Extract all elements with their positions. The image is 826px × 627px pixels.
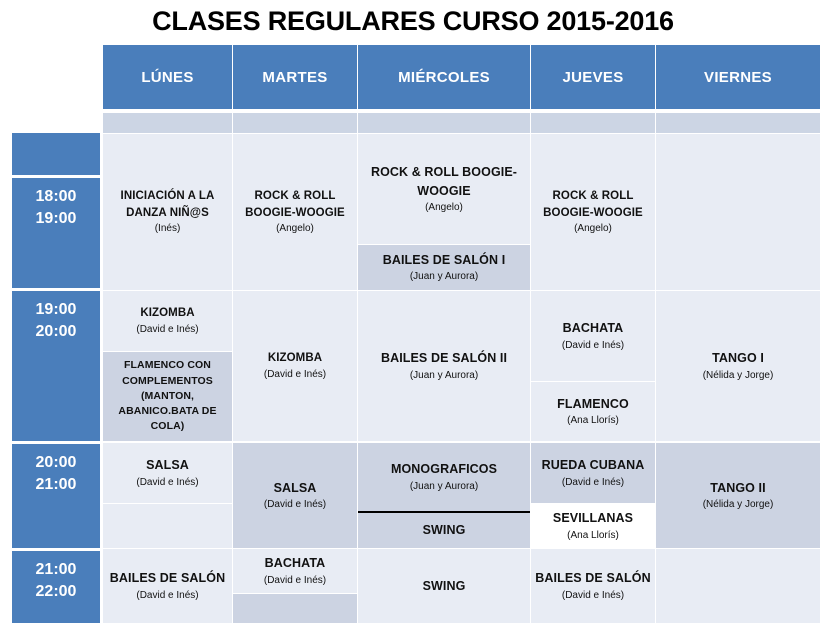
class-teacher: (Nélida y Jorge) [703,369,774,383]
class-teacher: (Ana Llorís) [567,414,619,428]
time-block-21-22: 21:00 22:00 [12,551,100,623]
time-from: 19:00 [36,299,77,321]
class-cell-lunes-20[interactable]: SALSA (David e Inés) [103,443,232,503]
class-teacher: (David e Inés) [264,574,326,588]
class-name: MONOGRAFICOS [391,460,497,478]
class-cell-miercoles-18-b[interactable]: BAILES DE SALÓN I (Juan y Aurora) [358,245,530,290]
time-block-20-21: 20:00 21:00 [12,444,100,548]
class-teacher: (David e Inés) [264,498,326,512]
class-cell-martes-21-empty[interactable] [233,594,357,623]
class-cell-miercoles-19[interactable]: BAILES DE SALÓN II (Juan y Aurora) [358,291,530,441]
day-header-martes: MARTES [233,45,357,109]
spacer-cell-miercoles [358,113,530,133]
spacer-cell-jueves [531,113,655,133]
class-teacher: (David e Inés) [136,589,198,603]
class-teacher: (Inés) [155,222,181,236]
class-name: SWING [423,521,466,539]
class-cell-viernes-19[interactable]: TANGO I (Nélida y Jorge) [656,291,820,441]
day-header-miercoles: MIÉRCOLES [358,45,530,109]
class-cell-martes-20[interactable]: SALSA (David e Inés) [233,443,357,548]
class-cell-viernes-18-empty[interactable] [656,134,820,290]
time-to: 21:00 [36,474,77,496]
class-teacher: (David e Inés) [264,368,326,382]
class-name: INICIACIÓN A LA DANZA NIÑ@S [107,188,228,221]
class-cell-jueves-20-a[interactable]: RUEDA CUBANA (David e Inés) [531,443,655,503]
class-cell-viernes-20[interactable]: TANGO II (Nélida y Jorge) [656,443,820,548]
class-name: FLAMENCO CON COMPLEMENTOS (MANTON, ABANI… [107,358,228,434]
class-teacher: (David e Inés) [562,476,624,490]
class-teacher: (Juan y Aurora) [410,480,478,494]
spacer-cell-viernes [656,113,820,133]
day-header-viernes: VIERNES [656,45,820,109]
time-to: 22:00 [36,581,77,603]
class-cell-lunes-19-b[interactable]: FLAMENCO CON COMPLEMENTOS (MANTON, ABANI… [103,352,232,441]
class-name: ROCK & ROLL BOOGIE-WOOGIE [237,188,353,221]
class-teacher: (Juan y Aurora) [410,369,478,383]
class-cell-lunes-21[interactable]: BAILES DE SALÓN (David e Inés) [103,549,232,623]
class-cell-jueves-20-b[interactable]: SEVILLANAS (Ana Llorís) [531,504,655,548]
class-name: SEVILLANAS [553,509,633,527]
class-cell-jueves-21[interactable]: BAILES DE SALÓN (David e Inés) [531,549,655,623]
class-name: BACHATA [563,319,624,337]
class-name: BAILES DE SALÓN I [383,251,506,269]
class-cell-lunes-19-a[interactable]: KIZOMBA (David e Inés) [103,291,232,351]
class-name: SALSA [146,456,189,474]
class-name: ROCK & ROLL BOOGIE-WOOGIE [535,188,651,221]
class-teacher: (David e Inés) [136,476,198,490]
time-from: 18:00 [36,186,77,208]
class-name: BAILES DE SALÓN [110,569,225,587]
class-name: BAILES DE SALÓN [535,569,650,587]
class-teacher: (Angelo) [425,201,463,215]
class-teacher: (David e Inés) [562,589,624,603]
time-block-18-19: 18:00 19:00 [12,178,100,288]
time-to: 20:00 [36,321,77,343]
time-from: 21:00 [36,559,77,581]
class-name: BACHATA [265,554,326,572]
class-name: RUEDA CUBANA [542,456,645,474]
class-cell-martes-19[interactable]: KIZOMBA (David e Inés) [233,291,357,441]
class-cell-lunes-18[interactable]: INICIACIÓN A LA DANZA NIÑ@S (Inés) [103,134,232,290]
class-name: ROCK & ROLL BOOGIE-WOOGIE [362,163,526,199]
class-name: SALSA [274,479,317,497]
class-teacher: (David e Inés) [562,339,624,353]
schedule-page: CLASES REGULARES CURSO 2015-2016 LÚNES M… [0,0,826,627]
time-block-empty [12,133,100,175]
class-teacher: (Angelo) [276,222,314,236]
class-name: FLAMENCO [557,395,629,413]
time-to: 19:00 [36,208,77,230]
class-name: BAILES DE SALÓN II [381,349,507,367]
class-name: KIZOMBA [268,350,322,367]
class-cell-lunes-20-empty[interactable] [103,504,232,548]
class-cell-viernes-21-empty[interactable] [656,549,820,623]
class-cell-miercoles-21[interactable]: SWING [358,549,530,623]
class-teacher: (Ana Llorís) [567,529,619,543]
class-teacher: (Nélida y Jorge) [703,498,774,512]
class-cell-jueves-19-a[interactable]: BACHATA (David e Inés) [531,291,655,381]
spacer-cell-martes [233,113,357,133]
page-title: CLASES REGULARES CURSO 2015-2016 [0,6,826,37]
class-teacher: (David e Inés) [136,323,198,337]
time-from: 20:00 [36,452,77,474]
day-header-lunes: LÚNES [103,45,232,109]
class-cell-jueves-19-b[interactable]: FLAMENCO (Ana Llorís) [531,382,655,441]
class-cell-martes-21[interactable]: BACHATA (David e Inés) [233,549,357,593]
class-name: SWING [423,577,466,595]
class-name: TANGO I [712,349,764,367]
class-teacher: (Angelo) [574,222,612,236]
class-cell-miercoles-20-a[interactable]: MONOGRAFICOS (Juan y Aurora) [358,443,530,511]
time-block-19-20: 19:00 20:00 [12,291,100,441]
class-name: TANGO II [710,479,765,497]
class-cell-martes-18[interactable]: ROCK & ROLL BOOGIE-WOOGIE (Angelo) [233,134,357,290]
class-name: KIZOMBA [140,305,194,322]
class-teacher: (Juan y Aurora) [410,270,478,284]
class-cell-miercoles-20-b[interactable]: SWING [358,511,530,548]
day-header-jueves: JUEVES [531,45,655,109]
spacer-cell-lunes [103,113,232,133]
class-cell-miercoles-18-a[interactable]: ROCK & ROLL BOOGIE-WOOGIE (Angelo) [358,134,530,244]
class-cell-jueves-18[interactable]: ROCK & ROLL BOOGIE-WOOGIE (Angelo) [531,134,655,290]
